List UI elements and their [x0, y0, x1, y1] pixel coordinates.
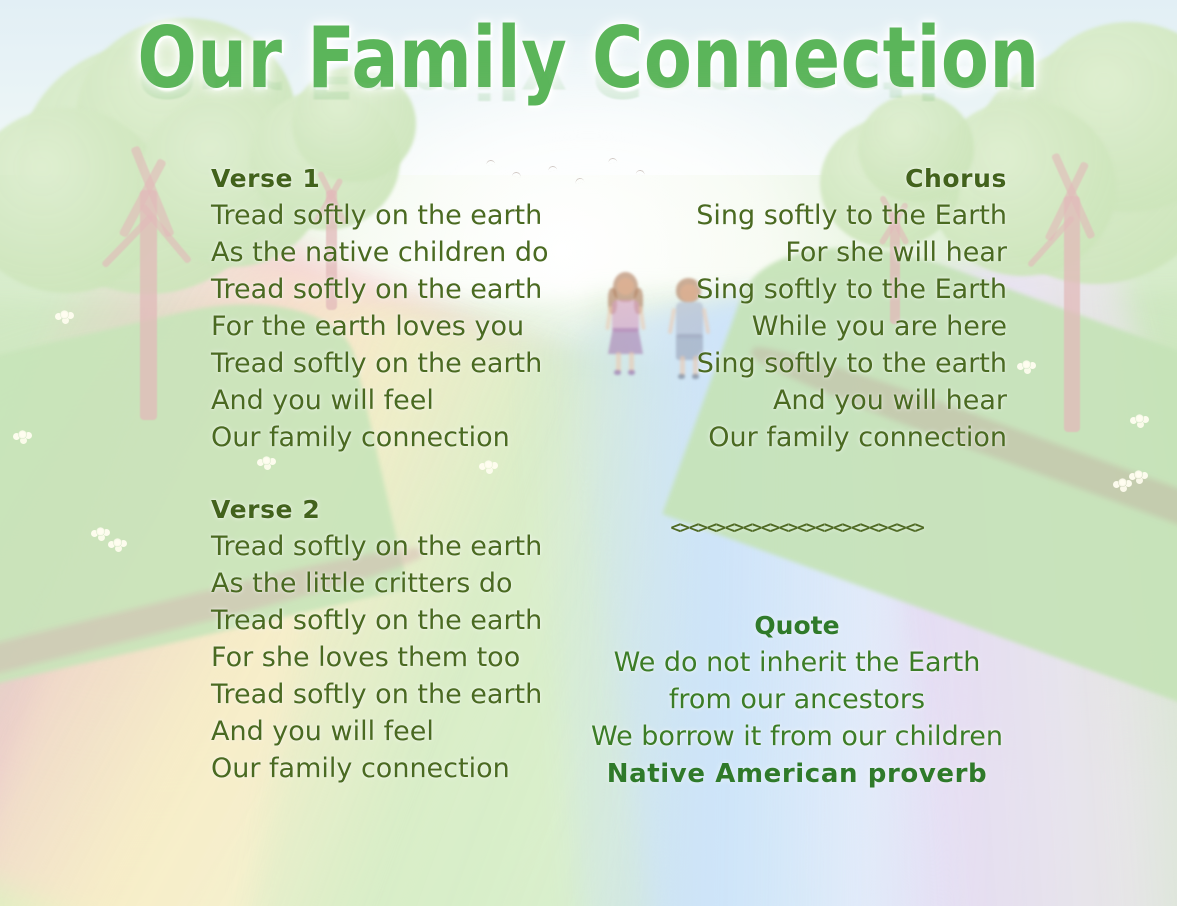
verse-1-heading: Verse 1: [211, 160, 611, 197]
left-column: Verse 1 Tread softly on the earth As the…: [211, 160, 611, 787]
verse-2-heading: Verse 2: [211, 491, 611, 528]
quote-line: from our ancestors: [587, 681, 1007, 718]
verse-2-line: And you will feel: [211, 713, 611, 750]
chorus-heading: Chorus: [587, 160, 1007, 197]
verse-2-line: Tread softly on the earth: [211, 528, 611, 565]
verse-2-line: For she loves them too: [211, 639, 611, 676]
verse-1-line: For the earth loves you: [211, 308, 611, 345]
page-title-reflection: Our Family Connection: [47, 54, 1130, 102]
verse-1-line: Tread softly on the earth: [211, 197, 611, 234]
verse-2-line: As the little critters do: [211, 565, 611, 602]
chorus-line: Sing softly to the Earth: [587, 197, 1007, 234]
slide-content: Our Family Connection Our Family Connect…: [0, 0, 1177, 906]
ornament-divider: <><><><><><><><><><><><><><>: [587, 518, 1007, 538]
chorus-line: Sing softly to the earth: [587, 345, 1007, 382]
verse-1-line: And you will feel: [211, 382, 611, 419]
quote-block: Quote We do not inherit the Earth from o…: [587, 608, 1007, 793]
verse-1-block: Verse 1 Tread softly on the earth As the…: [211, 160, 611, 456]
title-block: Our Family Connection Our Family Connect…: [0, 16, 1177, 168]
quote-attribution: Native American proverb: [587, 755, 1007, 793]
chorus-line: And you will hear: [587, 382, 1007, 419]
quote-heading: Quote: [587, 608, 1007, 644]
verse-1-line: Tread softly on the earth: [211, 271, 611, 308]
quote-line: We do not inherit the Earth: [587, 644, 1007, 681]
verse-1-line: Tread softly on the earth: [211, 345, 611, 382]
verse-2-line: Our family connection: [211, 750, 611, 787]
chorus-block: Chorus Sing softly to the Earth For she …: [587, 160, 1007, 456]
verse-2-line: Tread softly on the earth: [211, 602, 611, 639]
verse-1-line: As the native children do: [211, 234, 611, 271]
chorus-line: Our family connection: [587, 419, 1007, 456]
chorus-line: For she will hear: [587, 234, 1007, 271]
chorus-line: While you are here: [587, 308, 1007, 345]
verse-2-line: Tread softly on the earth: [211, 676, 611, 713]
slide-canvas: Our Family Connection Our Family Connect…: [0, 0, 1177, 906]
page-title: Our Family Connection: [47, 11, 1130, 105]
verse-2-block: Verse 2 Tread softly on the earth As the…: [211, 491, 611, 787]
verse-1-line: Our family connection: [211, 419, 611, 456]
quote-line: We borrow it from our children: [587, 718, 1007, 755]
chorus-line: Sing softly to the Earth: [587, 271, 1007, 308]
